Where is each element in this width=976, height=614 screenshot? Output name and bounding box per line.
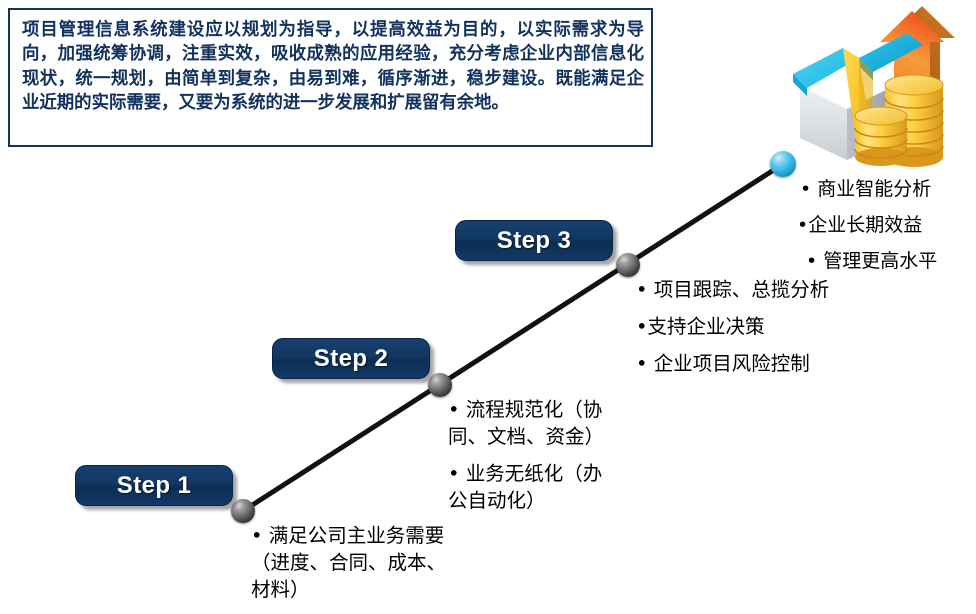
step-2-bullets: • 流程规范化（协 同、文档、资金） • 业务无纸化（办 公自动化）: [448, 396, 658, 514]
slide-canvas: 项目管理信息系统建设应以规划为指导，以提高效益为目的，以实际需求为导向，加强统筹…: [0, 0, 976, 614]
step-3-badge[interactable]: Step 3: [455, 220, 613, 261]
intro-paragraph: 项目管理信息系统建设应以规划为指导，以提高效益为目的，以实际需求为导向，加强统筹…: [22, 18, 644, 115]
node-step-3-icon: [616, 253, 640, 277]
step-2-badge[interactable]: Step 2: [272, 338, 430, 379]
intro-text-box: 项目管理信息系统建设应以规划为指导，以提高效益为目的，以实际需求为导向，加强统筹…: [8, 8, 653, 147]
outcome-bullet-1: • 商业智能分析: [800, 176, 976, 202]
step-1-bullet-1: • 满足公司主业务需要 （进度、合同、成本、 材料）: [251, 522, 531, 603]
step-1-bullets: • 满足公司主业务需要 （进度、合同、成本、 材料）: [251, 522, 531, 603]
step-2-bullet-1: • 流程规范化（协 同、文档、资金）: [448, 396, 658, 450]
step-3-bullets: • 项目跟踪、总揽分析 •支持企业决策 • 企业项目风险控制: [636, 276, 956, 377]
node-step-2-icon: [428, 373, 452, 397]
step-2-bullet-2: • 业务无纸化（办 公自动化）: [448, 460, 658, 514]
coin-stack-short-icon: [855, 107, 907, 166]
step-1-badge[interactable]: Step 1: [75, 465, 233, 506]
outcome-bullets: • 商业智能分析 •企业长期效益 • 管理更高水平: [800, 176, 976, 274]
node-step-1-icon: [231, 499, 255, 523]
outcome-bullet-3: • 管理更高水平: [806, 248, 976, 274]
step-3-bullet-3: • 企业项目风险控制: [636, 350, 956, 377]
step-3-bullet-1: • 项目跟踪、总揽分析: [636, 276, 956, 303]
outcome-bullet-2: •企业长期效益: [797, 212, 976, 238]
step-3-bullet-2: •支持企业决策: [636, 313, 956, 340]
house-with-coins-and-growth-arrow-icon: [781, 2, 976, 168]
